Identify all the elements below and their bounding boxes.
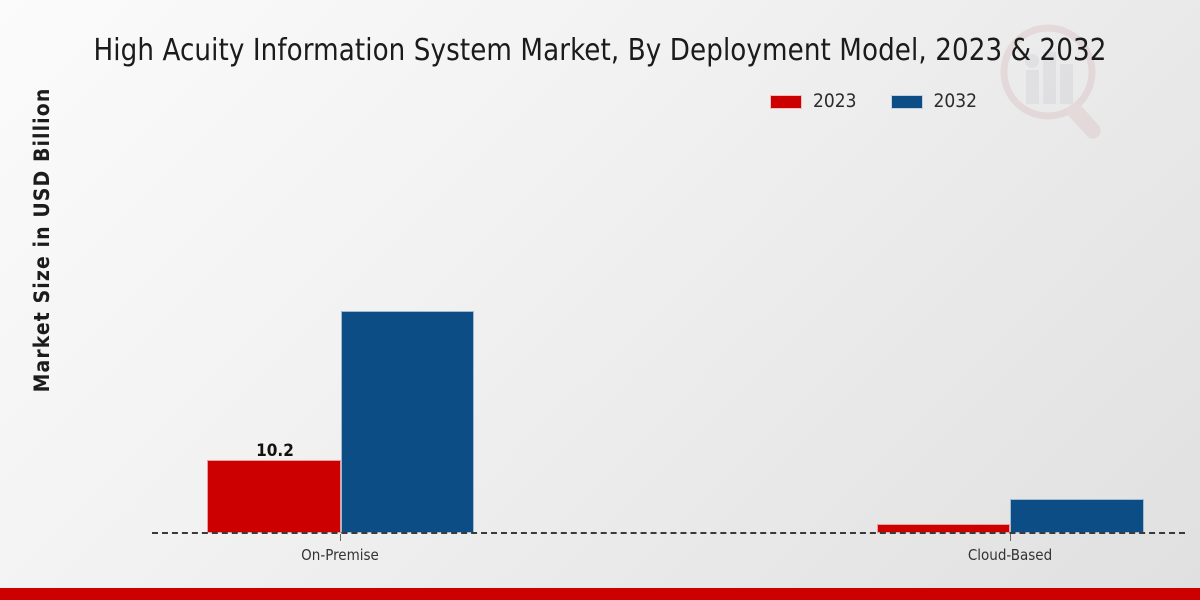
x-axis-label-cloud-based: Cloud-Based — [910, 546, 1110, 564]
x-axis-baseline — [152, 532, 1185, 534]
plot-area: 10.2 On-Premise Cloud-Based — [0, 0, 1200, 600]
bar-value-on-premise-2023: 10.2 — [235, 441, 315, 461]
chart-canvas: High Acuity Information System Market, B… — [0, 0, 1200, 600]
x-axis-tick-on-premise — [340, 534, 341, 541]
footer-accent-bar — [0, 588, 1200, 600]
bar-cloud-based-2032[interactable] — [1010, 499, 1144, 533]
bar-on-premise-2032[interactable] — [341, 311, 474, 533]
x-axis-tick-cloud-based — [1010, 534, 1011, 541]
x-axis-label-on-premise: On-Premise — [240, 546, 440, 564]
bar-on-premise-2023[interactable] — [207, 460, 341, 533]
